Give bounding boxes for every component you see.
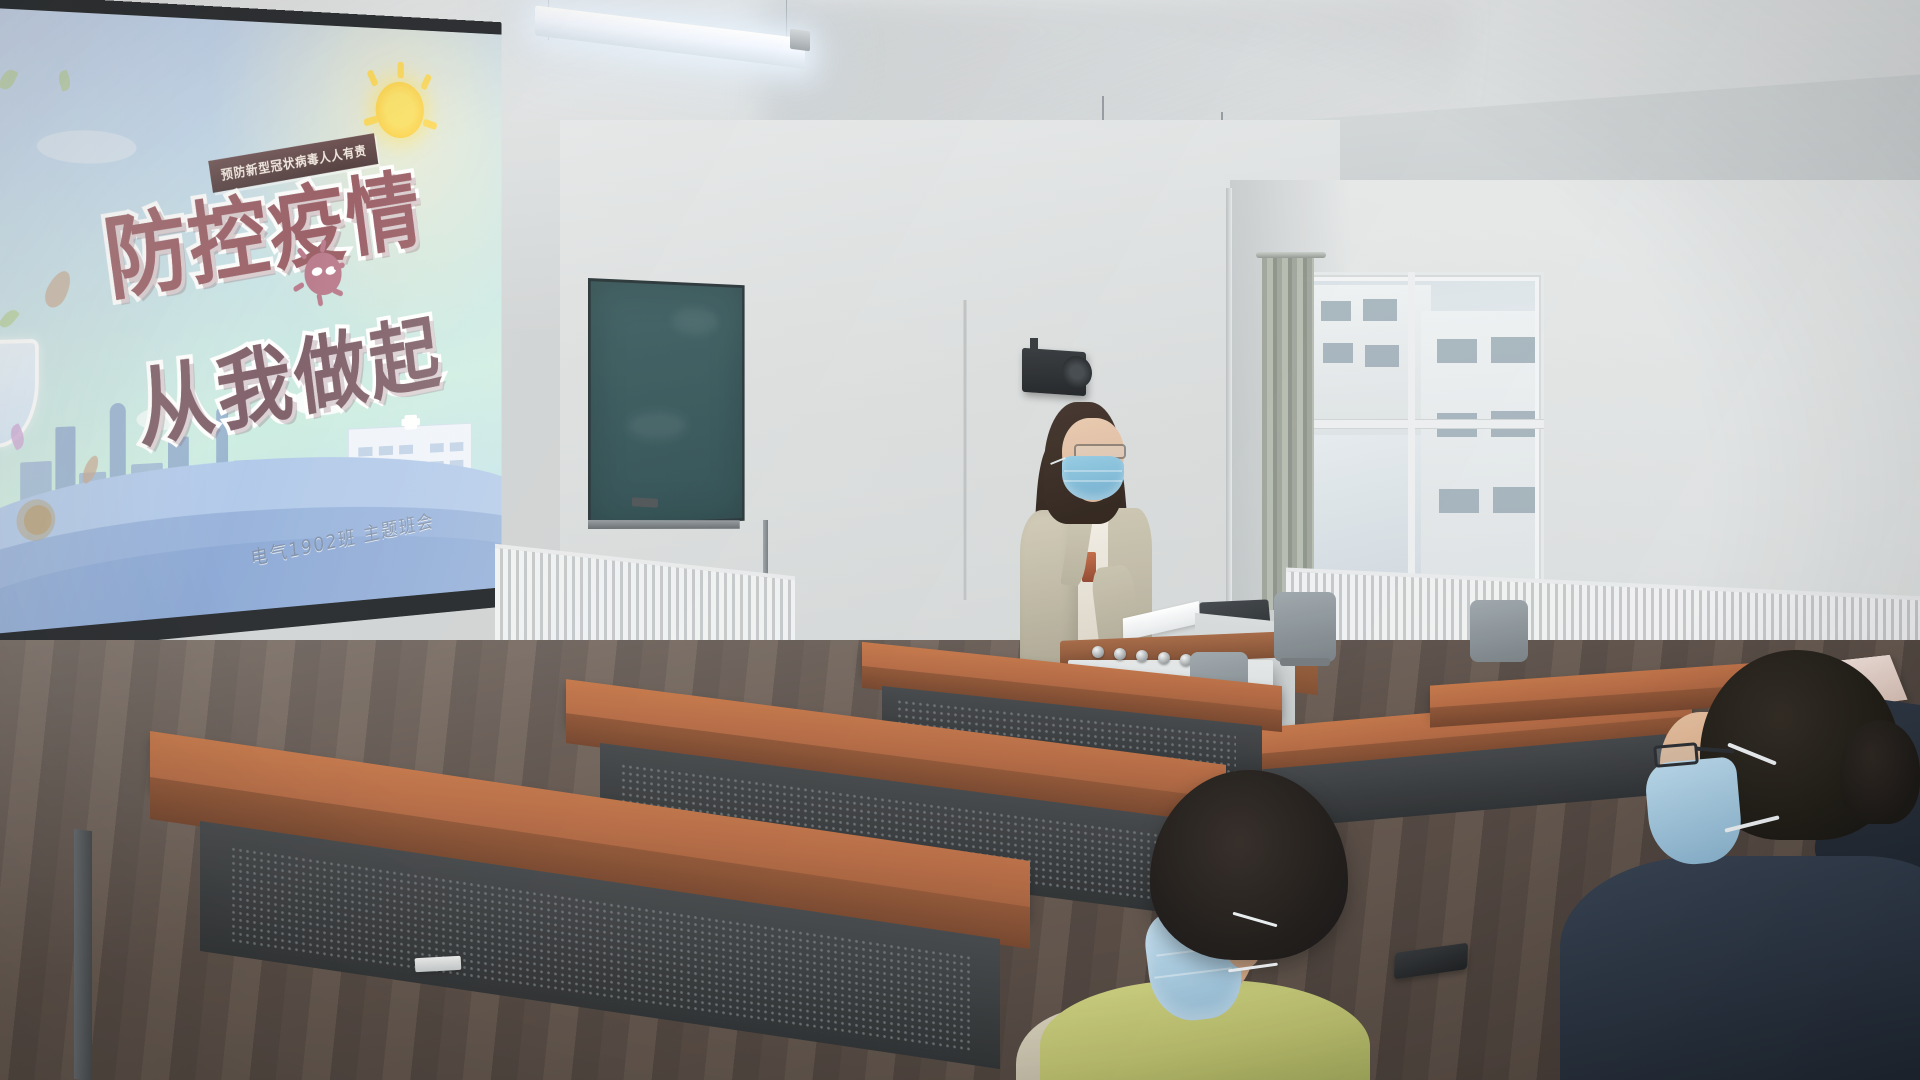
exterior-window [1365, 345, 1399, 367]
light-end-cap [790, 29, 810, 51]
leaf-icon [0, 306, 20, 331]
window [1292, 272, 1544, 590]
sun-ray [423, 119, 438, 131]
exterior-window [1363, 299, 1397, 321]
chair-frame [1280, 658, 1330, 666]
chair[interactable] [1274, 592, 1336, 662]
exterior-window [1323, 343, 1353, 363]
exterior-window [1321, 301, 1351, 321]
student-torso [1560, 856, 1920, 1080]
desk-leg [74, 829, 92, 1080]
lectern-control-button[interactable] [1158, 652, 1170, 664]
lectern-control-button[interactable] [1114, 648, 1126, 660]
window-glass [1301, 281, 1535, 581]
curtain[interactable] [1262, 258, 1314, 610]
exterior-window [1493, 487, 1535, 513]
blackboard [588, 278, 745, 528]
student-head-background [1840, 720, 1920, 824]
chalkboard-eraser [632, 497, 658, 507]
virus-spike [331, 287, 343, 297]
lectern-control-button[interactable] [1092, 646, 1104, 658]
chalkboard-eraser [415, 956, 462, 972]
exterior-window [1491, 337, 1535, 363]
glasses-icon [1653, 742, 1699, 768]
light-wire [786, 0, 787, 38]
chair[interactable] [1470, 600, 1528, 662]
lectern-control-button[interactable] [1136, 650, 1148, 662]
mask-fold [1064, 470, 1122, 472]
classroom-photo: 预防新型冠状病毒人人有责 防控疫情 防控疫情 从我做起 从我做起 电气1902班… [0, 0, 1920, 1080]
sun-ray [363, 115, 378, 126]
leaf-icon [0, 67, 18, 93]
sun-ray [420, 73, 432, 91]
exterior-window [1439, 489, 1479, 513]
hospital-cross-icon [401, 418, 420, 426]
exterior-window [1437, 339, 1477, 363]
sun-icon [376, 81, 424, 139]
projection-screen: 预防新型冠状病毒人人有责 防控疫情 防控疫情 从我做起 从我做起 电气1902班… [0, 0, 494, 674]
sun-ray [366, 69, 378, 87]
chalk-tray [588, 520, 740, 529]
mask-fold [1064, 480, 1122, 482]
virus-particle-icon [41, 267, 76, 312]
slide-title-line1: 防控疫情 [95, 141, 427, 320]
speaker-bracket [1030, 338, 1038, 352]
sun-ray [398, 62, 404, 79]
window-mullion [1292, 420, 1544, 428]
presentation-slide: 预防新型冠状病毒人人有责 防控疫情 防控疫情 从我做起 从我做起 电气1902班… [0, 8, 501, 639]
cloud-icon [37, 129, 137, 164]
wall-conduit [963, 300, 967, 600]
window-mullion [1408, 272, 1415, 590]
leaf-icon [56, 69, 73, 91]
